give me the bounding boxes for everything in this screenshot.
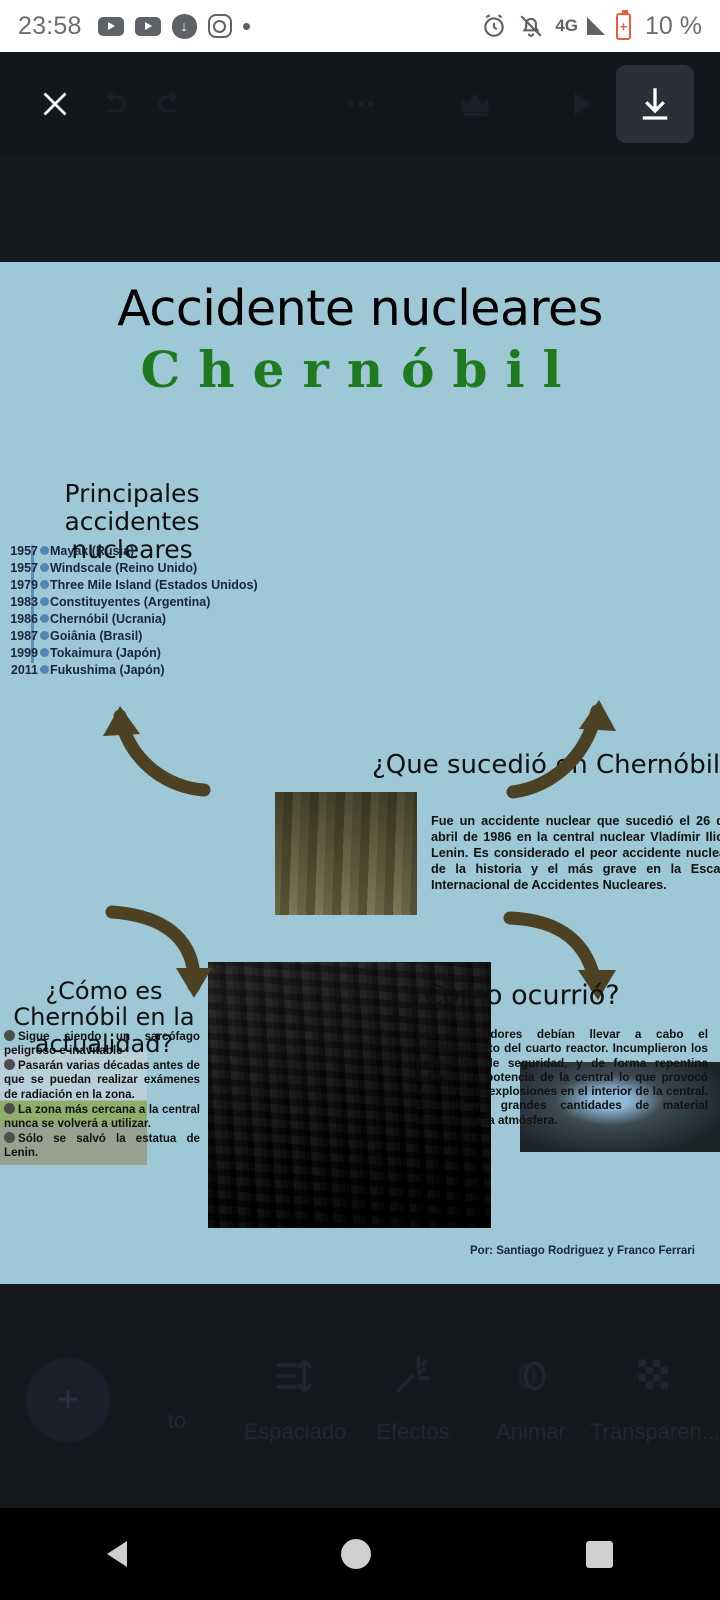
bullet-text: Sigue siendo un sarcófago peligroso e in… bbox=[4, 1030, 200, 1057]
editor-top-toolbar bbox=[0, 52, 720, 156]
tool-label: to bbox=[168, 1408, 186, 1434]
tool-label: Animar bbox=[496, 1419, 566, 1445]
arrow-up-right-icon bbox=[505, 687, 625, 802]
tool-spacing[interactable]: Espaciado bbox=[236, 1354, 354, 1445]
timeline-item: 1987 Goiânia (Brasil) bbox=[8, 627, 268, 644]
list-item: Pasarán varias décadas antes de que se p… bbox=[4, 1059, 200, 1101]
tool-label: Efectos bbox=[376, 1419, 449, 1445]
timeline-dot-icon bbox=[38, 546, 50, 555]
youtube-icon bbox=[135, 17, 161, 36]
slide-title-line1[interactable]: Accidente nucleares bbox=[0, 280, 720, 337]
bullet-dot-icon bbox=[4, 1103, 15, 1114]
timeline-item: 2011 Fukushima (Japón) bbox=[8, 661, 268, 678]
list-item: Sigue siendo un sarcófago peligroso e in… bbox=[4, 1030, 200, 1058]
bullet-text: Pasarán varias décadas antes de que se p… bbox=[4, 1059, 200, 1100]
timeline-item: 1986 Chernóbil (Ucrania) bbox=[8, 610, 268, 627]
timeline-item: 1957 Windscale (Reino Unido) bbox=[8, 559, 268, 576]
timeline-event: Goiânia (Brasil) bbox=[50, 629, 142, 643]
animate-icon bbox=[509, 1354, 553, 1403]
credit-line[interactable]: Por: Santiago Rodriguez y Franco Ferrari bbox=[470, 1245, 695, 1257]
download-icon[interactable] bbox=[616, 65, 694, 143]
timeline-event: Constituyentes (Argentina) bbox=[50, 595, 210, 609]
timeline-dot-icon bbox=[38, 648, 50, 657]
timeline-event: Tokaimura (Japón) bbox=[50, 646, 161, 660]
editor-bottom-toolbar: + to Espaciado Efectos bbox=[0, 1284, 720, 1508]
status-system-icons: 4G 10 % bbox=[481, 12, 702, 41]
alarm-icon bbox=[481, 13, 507, 39]
recents-button[interactable] bbox=[586, 1541, 613, 1568]
status-time: 23:58 bbox=[18, 12, 82, 41]
bullet-text: Sólo se salvó la estatua de Lenin. bbox=[4, 1132, 200, 1159]
network-type-label: 4G bbox=[555, 16, 578, 36]
timeline-item: 1983 Constituyentes (Argentina) bbox=[8, 593, 268, 610]
bullet-list-today[interactable]: Sigue siendo un sarcófago peligroso e in… bbox=[4, 1030, 200, 1161]
status-notification-icons bbox=[98, 14, 250, 39]
instagram-icon bbox=[208, 14, 232, 38]
tool-text[interactable]: to bbox=[118, 1354, 236, 1434]
play-icon[interactable] bbox=[552, 75, 610, 133]
tool-list: to Espaciado Efectos bbox=[118, 1354, 720, 1464]
dot-icon bbox=[243, 23, 250, 30]
bullet-dot-icon bbox=[4, 1132, 15, 1143]
close-icon[interactable] bbox=[26, 75, 84, 133]
slide-title-line2[interactable]: Chernóbil bbox=[0, 340, 720, 399]
effects-icon bbox=[391, 1354, 435, 1403]
timeline-list[interactable]: 1957 Mayak (Rusia) 1957 Windscale (Reino… bbox=[8, 542, 268, 678]
timeline-year: 1957 bbox=[8, 544, 38, 558]
paragraph-how[interactable]: Los trabajadores debían llevar a cabo el… bbox=[416, 1027, 708, 1127]
timeline-year: 1987 bbox=[8, 629, 38, 643]
add-button[interactable]: + bbox=[26, 1358, 110, 1442]
list-item: La zona más cercana a la central nunca s… bbox=[4, 1103, 200, 1131]
more-icon[interactable] bbox=[332, 75, 390, 133]
tool-animate[interactable]: Animar bbox=[472, 1354, 590, 1445]
undo-icon[interactable] bbox=[84, 75, 142, 133]
crown-icon[interactable] bbox=[446, 75, 504, 133]
timeline-item: 1979 Three Mile Island (Estados Unidos) bbox=[8, 576, 268, 593]
signal-icon bbox=[587, 17, 605, 35]
tool-effects[interactable]: Efectos bbox=[354, 1354, 472, 1445]
timeline-item: 1999 Tokaimura (Japón) bbox=[8, 644, 268, 661]
transparency-icon bbox=[633, 1354, 677, 1403]
tool-label: Espaciado bbox=[244, 1419, 347, 1445]
section-heading-how[interactable]: ¿Cómo ocurrió? bbox=[410, 980, 620, 1011]
timeline-year: 1999 bbox=[8, 646, 38, 660]
arrow-down-right-icon bbox=[500, 910, 640, 1030]
battery-charging-icon bbox=[616, 13, 631, 40]
home-button[interactable] bbox=[341, 1539, 371, 1569]
abandoned-corridor-photo[interactable] bbox=[275, 792, 417, 915]
timeline-dot-icon bbox=[38, 563, 50, 572]
android-nav-bar bbox=[0, 1508, 720, 1600]
line-spacing-icon bbox=[273, 1354, 317, 1403]
bullet-dot-icon bbox=[4, 1059, 15, 1070]
timeline-dot-icon bbox=[38, 614, 50, 623]
timeline-year: 2011 bbox=[8, 663, 38, 677]
timeline-dot-icon bbox=[38, 580, 50, 589]
battery-percent-label: 10 % bbox=[645, 12, 702, 41]
timeline-year: 1979 bbox=[8, 578, 38, 592]
timeline-dot-icon bbox=[38, 665, 50, 674]
bullet-text: La zona más cercana a la central nunca s… bbox=[4, 1103, 200, 1130]
bullet-dot-icon bbox=[4, 1030, 15, 1041]
timeline-item: 1957 Mayak (Rusia) bbox=[8, 542, 268, 559]
phone-screen: 23:58 4G 10 % bbox=[0, 0, 720, 1600]
list-item: Sólo se salvó la estatua de Lenin. bbox=[4, 1132, 200, 1160]
timeline-dot-icon bbox=[38, 631, 50, 640]
timeline-year: 1957 bbox=[8, 561, 38, 575]
status-bar: 23:58 4G 10 % bbox=[0, 0, 720, 52]
timeline-year: 1983 bbox=[8, 595, 38, 609]
redo-icon[interactable] bbox=[142, 75, 200, 133]
timeline-event: Three Mile Island (Estados Unidos) bbox=[50, 578, 258, 592]
download-app-icon bbox=[172, 14, 197, 39]
bell-muted-icon bbox=[518, 13, 544, 39]
timeline-dot-icon bbox=[38, 597, 50, 606]
arrow-up-left-icon bbox=[96, 692, 216, 802]
youtube-icon bbox=[98, 17, 124, 36]
timeline-event: Windscale (Reino Unido) bbox=[50, 561, 197, 575]
paragraph-what-happened[interactable]: Fue un accidente nuclear que sucedió el … bbox=[431, 814, 720, 893]
slide-canvas[interactable]: Accidente nucleares Chernóbil Principale… bbox=[0, 262, 720, 1284]
timeline-event: Chernóbil (Ucrania) bbox=[50, 612, 166, 626]
timeline-event: Mayak (Rusia) bbox=[50, 544, 134, 558]
timeline-year: 1986 bbox=[8, 612, 38, 626]
tool-transparency[interactable]: Transparen... bbox=[590, 1354, 720, 1445]
tool-label: Transparen... bbox=[590, 1419, 720, 1445]
timeline-event: Fukushima (Japón) bbox=[50, 663, 165, 677]
back-button[interactable] bbox=[107, 1541, 127, 1567]
